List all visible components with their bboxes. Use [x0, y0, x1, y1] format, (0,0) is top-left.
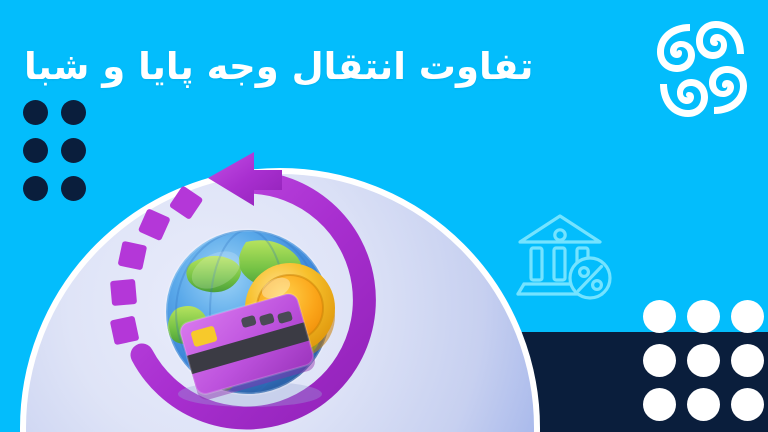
- decor-dot: [23, 100, 48, 125]
- brand-logo[interactable]: [650, 14, 754, 124]
- decor-dot: [731, 344, 764, 377]
- decor-dot: [687, 344, 720, 377]
- bank-percent-icon: [512, 208, 612, 308]
- decor-dot: [23, 138, 48, 163]
- decor-dot: [731, 300, 764, 333]
- page-title: تفاوت انتقال وجه پایا و شبا: [0, 44, 646, 90]
- arrow-head: [208, 152, 282, 206]
- decor-dot: [731, 388, 764, 421]
- dot-grid-left: [10, 100, 86, 214]
- decor-dot: [643, 344, 676, 377]
- bank-column-icon: [531, 248, 542, 280]
- dot-grid-right: [632, 300, 764, 432]
- decor-dot: [23, 176, 48, 201]
- bank-column-icon: [554, 248, 565, 280]
- decor-dot: [687, 388, 720, 421]
- decor-dot: [643, 388, 676, 421]
- bank-roof-medallion-icon: [555, 230, 565, 240]
- globe-illustration: [150, 212, 350, 412]
- pinwheel-6-9-logo-icon: [657, 21, 747, 117]
- banner-canvas: تفاوت انتقال وجه پایا و شبا: [0, 0, 768, 432]
- decor-dot: [61, 176, 86, 201]
- decor-dot: [61, 100, 86, 125]
- decor-dot: [61, 138, 86, 163]
- decor-dot: [643, 300, 676, 333]
- decor-dot: [687, 300, 720, 333]
